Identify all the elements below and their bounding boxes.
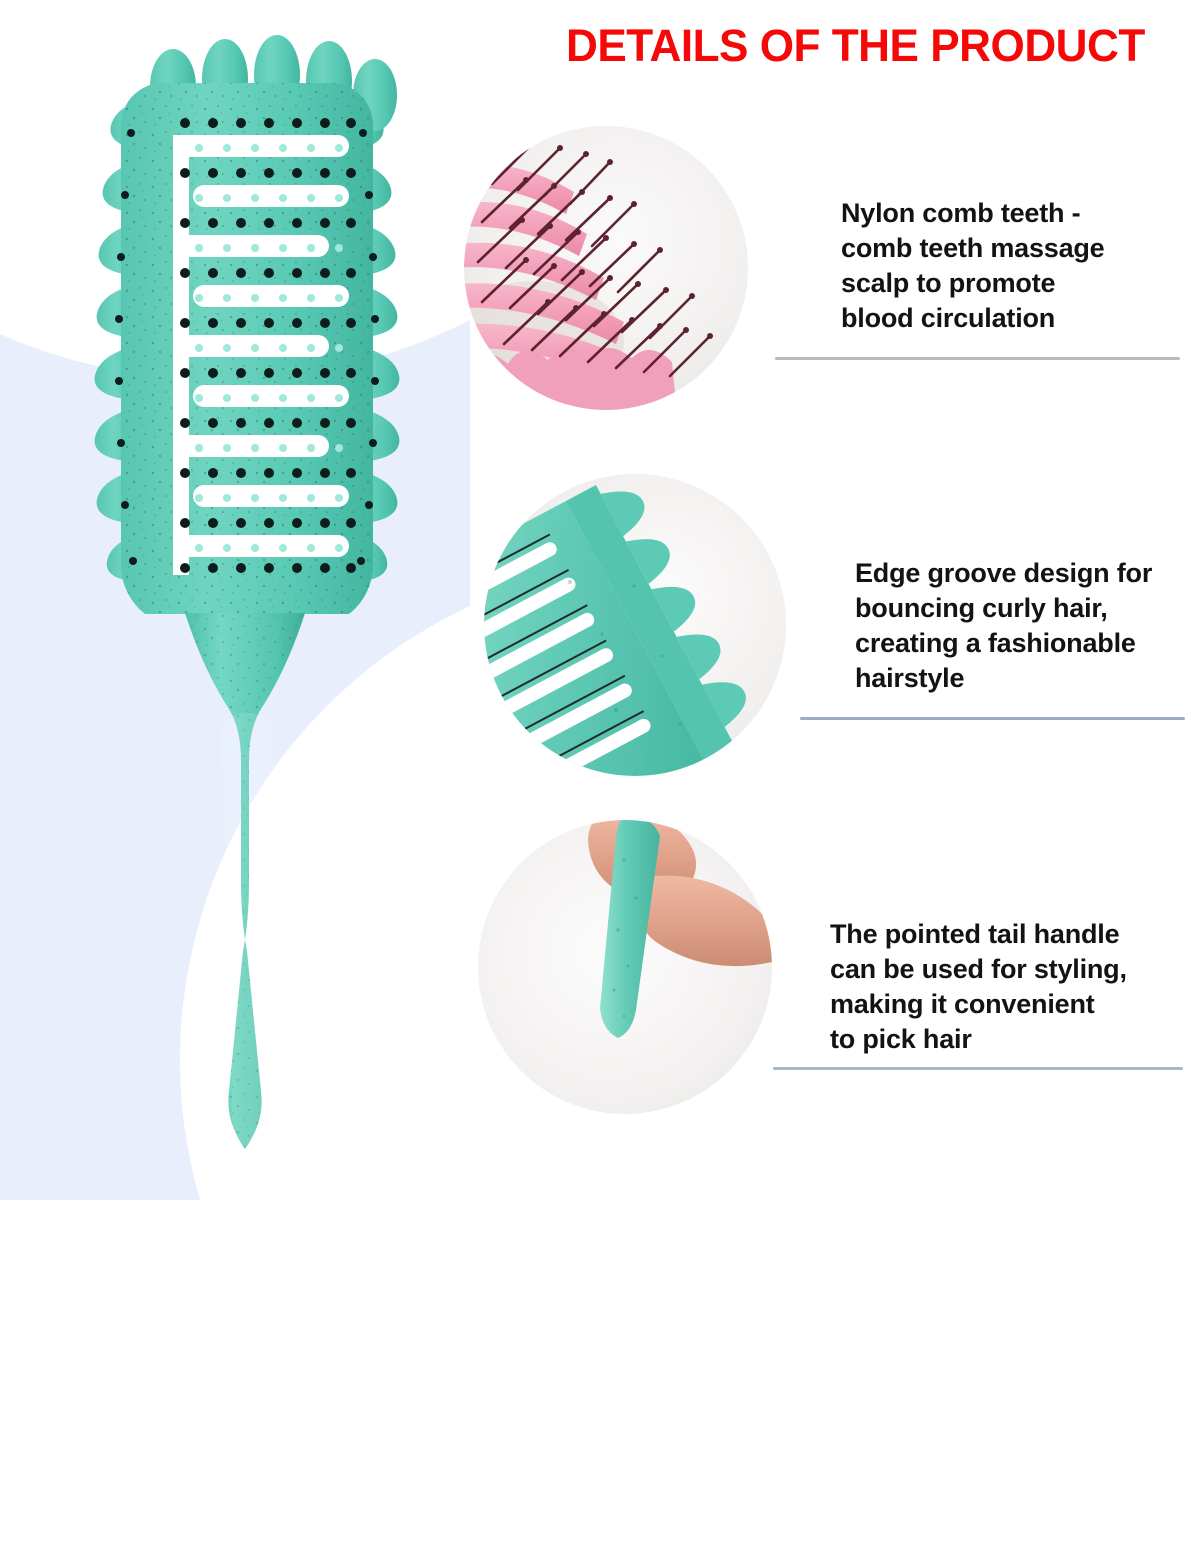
- page-title: DETAILS OF THE PRODUCT: [566, 22, 1174, 72]
- feature-divider-1: [775, 357, 1180, 360]
- feature-line: making it convenient: [830, 987, 1180, 1022]
- feature-text-pointed-tail-handle: The pointed tail handle can be used for …: [830, 917, 1180, 1057]
- feature-text-edge-groove: Edge groove design for bouncing curly ha…: [855, 556, 1185, 696]
- feature-line: comb teeth massage: [841, 231, 1181, 266]
- feature-line: hairstyle: [855, 661, 1185, 696]
- product-infographic: DETAILS OF THE PRODUCT: [0, 0, 1200, 1200]
- feature-line: bouncing curly hair,: [855, 591, 1185, 626]
- feature-text-nylon-comb-teeth: Nylon comb teeth - comb teeth massage sc…: [841, 196, 1181, 336]
- feature-line: to pick hair: [830, 1022, 1180, 1057]
- feature-line: can be used for styling,: [830, 952, 1180, 987]
- feature-photo-nylon-comb-teeth: [464, 126, 748, 410]
- feature-line: The pointed tail handle: [830, 917, 1180, 952]
- feature-divider-2: [800, 717, 1185, 720]
- feature-line: Nylon comb teeth -: [841, 196, 1181, 231]
- feature-divider-3: [773, 1067, 1183, 1070]
- feature-photo-pointed-tail-handle: [478, 820, 772, 1114]
- feature-line: blood circulation: [841, 301, 1181, 336]
- feature-photo-edge-groove: [484, 474, 786, 776]
- feature-line: Edge groove design for: [855, 556, 1185, 591]
- product-image-main-brush: [45, 25, 445, 1155]
- feature-line: scalp to promote: [841, 266, 1181, 301]
- feature-line: creating a fashionable: [855, 626, 1185, 661]
